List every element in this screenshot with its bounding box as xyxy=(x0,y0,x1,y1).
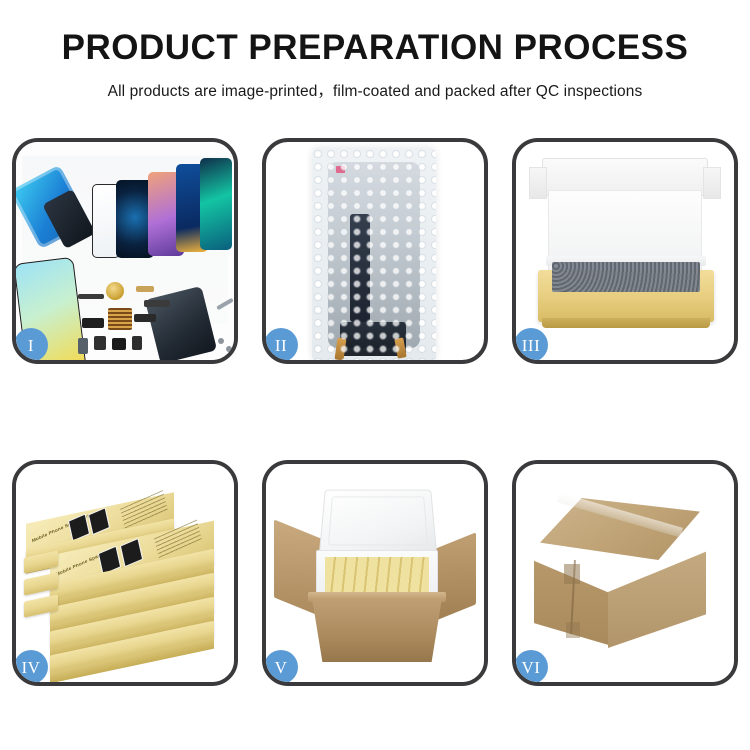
packed-yellow-boxes xyxy=(325,557,429,597)
bubble-wrap-pouch xyxy=(312,148,436,360)
flex-cable-part xyxy=(78,294,104,299)
step-badge-3: III xyxy=(514,328,548,362)
step-badge-6: VI xyxy=(514,650,548,684)
page-title: PRODUCT PREPARATION PROCESS xyxy=(0,30,750,65)
step-badge-4: IV xyxy=(14,650,48,684)
packed-grey-contents xyxy=(552,262,700,292)
box-screen-art-4 xyxy=(120,538,143,567)
step-1-image xyxy=(16,142,234,360)
process-step-panel-2[interactable]: II xyxy=(262,138,488,364)
process-step-panel-1[interactable]: I xyxy=(12,138,238,364)
process-step-grid: I II xyxy=(12,138,738,686)
header: PRODUCT PREPARATION PROCESS All products… xyxy=(0,0,750,101)
speaker-coil-part xyxy=(106,282,124,300)
sim-tray-part xyxy=(78,338,88,354)
small-module-part xyxy=(82,318,104,328)
step-6-image xyxy=(516,464,734,682)
process-step-panel-6[interactable]: VI xyxy=(512,460,738,686)
foam-lid xyxy=(319,490,437,554)
inner-box-scene xyxy=(516,142,734,360)
step-badge-5: V xyxy=(264,650,298,684)
battery-connector-part xyxy=(112,338,126,350)
step-badge-1: I xyxy=(14,328,48,362)
open-carton-image xyxy=(266,464,484,682)
step-4-image: Mobile Phone Spare Parts Mobile Phone Sp… xyxy=(16,464,234,682)
stacked-boxes-image: Mobile Phone Spare Parts Mobile Phone Sp… xyxy=(16,464,234,682)
step-badge-2: II xyxy=(264,328,298,362)
yellow-tray-box xyxy=(538,270,714,322)
vibrator-grid-part xyxy=(108,308,132,330)
step-3-image xyxy=(516,142,734,360)
page-subtitle: All products are image-printed，film-coat… xyxy=(0,79,750,101)
bubble-texture-overlay xyxy=(312,148,436,360)
ribbon-cable-part xyxy=(134,314,156,322)
carton-front-wall xyxy=(312,598,442,662)
button-flex-part xyxy=(132,336,142,350)
infographic-page: PRODUCT PREPARATION PROCESS All products… xyxy=(0,0,750,750)
screw-part-1 xyxy=(218,338,224,344)
process-step-panel-4[interactable]: Mobile Phone Spare Parts Mobile Phone Sp… xyxy=(12,460,238,686)
carton-tab-lower xyxy=(566,622,580,638)
charge-port-part xyxy=(144,300,170,307)
process-step-panel-5[interactable]: V xyxy=(262,460,488,686)
screw-part-2 xyxy=(226,346,232,352)
phone-parts-collage-image xyxy=(16,142,234,360)
phone-screen-teal xyxy=(200,158,232,250)
gold-connector-part xyxy=(136,286,154,292)
process-step-panel-3[interactable]: III xyxy=(512,138,738,364)
camera-module-part xyxy=(94,336,106,350)
sealed-carton-image xyxy=(516,464,734,682)
step-5-image xyxy=(266,464,484,682)
tray-base-edge xyxy=(542,318,710,328)
carton-tab-upper xyxy=(564,564,580,584)
step-2-image xyxy=(266,142,484,360)
